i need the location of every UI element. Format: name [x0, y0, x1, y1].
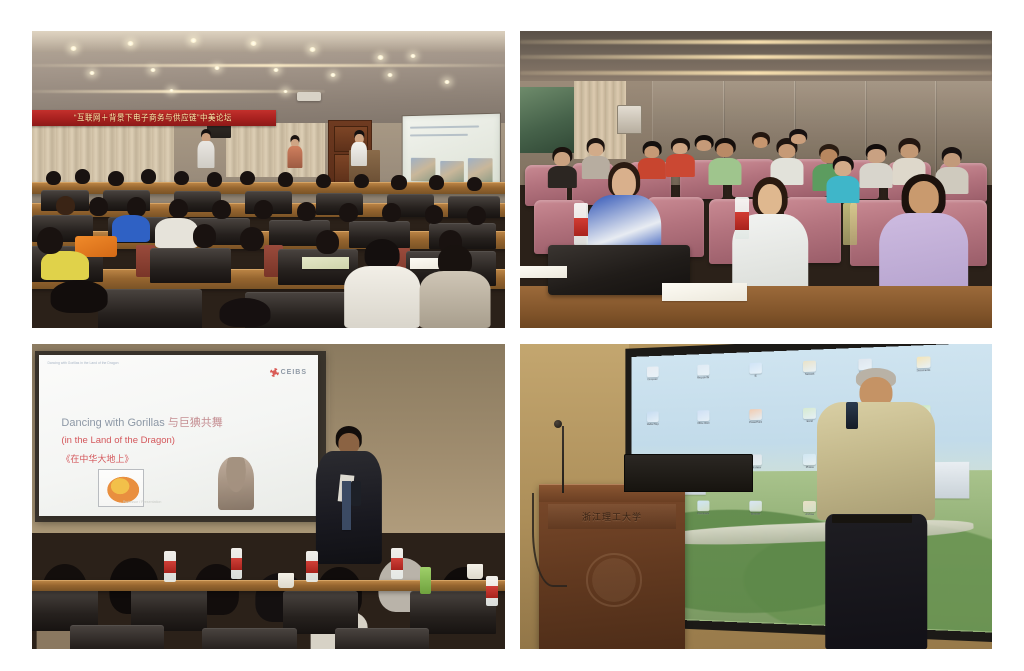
forum-banner-text: “互联网＋背景下电子商务与供应链”中美论坛	[74, 112, 232, 125]
student	[690, 135, 718, 171]
attendee-head	[37, 227, 63, 254]
photo-international-students-audience	[520, 31, 992, 328]
attendee-head	[316, 230, 340, 254]
water-bottle	[306, 551, 317, 582]
ceiling-downlight	[250, 41, 257, 46]
desktop-icon[interactable]: Computer	[647, 366, 659, 381]
slide-subtitle-english: (in the Land of the Dragon)	[61, 435, 175, 446]
desktop-icon[interactable]: Recycle Bin	[698, 365, 710, 380]
attendee-head	[240, 171, 255, 186]
audience-desk	[32, 580, 505, 590]
desktop-icon-label: Photos	[804, 466, 817, 469]
desktop-icon-glyph	[647, 411, 659, 422]
desktop-icon[interactable]: IE	[750, 363, 763, 378]
foreground-attendee	[32, 280, 127, 328]
desktop-icon-label: Archive	[804, 513, 817, 516]
students-audience-scene	[520, 31, 992, 328]
photo-collage: “互联网＋背景下电子商务与供应链”中美论坛	[0, 0, 1024, 671]
desktop-icon[interactable]: Network	[804, 361, 817, 377]
desktop-icon[interactable]: Media Player	[647, 411, 659, 426]
ceiling-downlight	[444, 80, 450, 84]
slide-caption: Professor / Presentation	[123, 500, 162, 504]
handheld-microphone	[351, 481, 360, 505]
paper-cup	[278, 573, 294, 588]
green-bottle	[420, 567, 431, 594]
attendee-head	[425, 205, 444, 224]
notebook-on-desk	[302, 257, 349, 269]
attendee-body	[41, 251, 88, 281]
desktop-icon[interactable]: PowerPoint	[750, 409, 763, 424]
seat-back	[335, 628, 430, 649]
foreground-attendee	[202, 298, 287, 328]
desktop-icon-label: IE	[750, 375, 763, 379]
slide-subtitle-chinese: 《在中华大地上》	[61, 452, 133, 465]
photo-speaker-with-slide-presentation: Dancing with Gorillas in the Land of the…	[32, 344, 505, 649]
desktop-icon-glyph	[804, 361, 817, 372]
slide-title-english: Dancing with Gorillas	[61, 417, 164, 429]
attendee-head	[108, 171, 124, 186]
lectern-nameplate-text: 浙江理工大学	[582, 510, 642, 523]
desktop-icon-label: Media Player	[647, 423, 659, 426]
window-curtain	[226, 123, 325, 176]
desktop-icon[interactable]: Excel	[804, 407, 817, 423]
attendee-head	[254, 200, 273, 219]
presenter-necktie	[342, 481, 351, 530]
desktop-icon-glyph	[698, 501, 710, 512]
desktop-icon-glyph	[804, 407, 817, 418]
standing-presenter	[287, 135, 302, 168]
attendee-head	[429, 175, 444, 190]
lectern-nameplate: 浙江理工大学	[548, 504, 677, 529]
forum-banner: “互联网＋背景下电子商务与供应链”中美论坛	[32, 110, 276, 126]
desktop-icon-label: PowerPoint	[750, 421, 763, 424]
ceiling-downlight	[89, 71, 95, 75]
water-bottle	[164, 551, 175, 582]
water-bottle	[574, 203, 588, 245]
water-bottle	[735, 197, 749, 239]
projection-screen	[401, 113, 501, 189]
attendee-head	[212, 200, 231, 219]
desktop-icon[interactable]: Browser	[750, 501, 763, 516]
ceiling-downlight	[190, 38, 197, 43]
attendee-head	[141, 169, 156, 184]
attendee-head	[278, 172, 293, 187]
lecture-hall-scene: “互联网＋背景下电子商务与供应链”中美论坛	[32, 31, 505, 328]
desktop-icon-label: Computer	[647, 378, 659, 381]
photo-speaker-at-podium: ComputerRecycle BinIENetworkControl Pane…	[520, 344, 992, 649]
student	[784, 129, 812, 165]
podium-scene: ComputerRecycle BinIENetworkControl Pane…	[520, 344, 992, 649]
glass-bottle	[843, 203, 857, 245]
student-with-glasses	[827, 156, 860, 204]
gorilla-statue-image	[218, 457, 254, 510]
desktop-icon-label: Browser	[750, 513, 763, 516]
desktop-icon-glyph	[917, 356, 931, 368]
microphone-stand	[562, 426, 564, 493]
desktop-icon-glyph	[750, 409, 763, 420]
attendee-head	[467, 177, 482, 192]
desktop-icon-glyph	[750, 501, 763, 512]
attendee-head	[174, 171, 189, 186]
slide-title: Dancing with Gorillas 与巨猠共舞	[61, 414, 222, 430]
student	[548, 147, 576, 189]
seat-back	[150, 248, 230, 284]
desktop-icon-label: Network	[804, 373, 817, 377]
student-in-lavender-top	[879, 174, 969, 305]
paper-cup	[467, 564, 483, 579]
foreground-attendee-white-top	[344, 239, 420, 328]
presenter-with-microphone	[817, 368, 935, 649]
cove-light-strip	[520, 55, 992, 59]
ceiling-downlight	[410, 54, 416, 58]
wallpaper-building	[934, 461, 970, 498]
ceibs-logo-mark	[270, 368, 279, 377]
desktop-icon-glyph	[647, 366, 659, 377]
presenter-belt	[832, 515, 912, 523]
ceiling-downlight	[387, 73, 393, 77]
ceiling-downlight	[127, 41, 134, 46]
attendee-head	[169, 199, 188, 218]
attendee-head	[75, 169, 90, 184]
attendee-head	[339, 203, 358, 222]
seat-back	[70, 625, 165, 649]
water-bottle	[391, 548, 402, 579]
projected-slide: Dancing with Gorillas in the Land of the…	[39, 355, 318, 517]
attendee-head	[391, 175, 406, 190]
desktop-icon-label: Excel	[804, 420, 817, 423]
slide-top-note: Dancing with Gorillas in the Land of the…	[47, 361, 118, 366]
attendee-head	[127, 197, 147, 217]
desktop-icon[interactable]: Archive	[804, 501, 817, 516]
ceiling-downlight	[169, 89, 174, 92]
attendee-head	[316, 174, 331, 189]
cove-light-strip	[32, 90, 325, 93]
attendee-head	[354, 174, 369, 189]
foreground-attendee	[420, 245, 491, 328]
handout-paper	[662, 283, 747, 301]
university-seal	[586, 553, 643, 606]
ceiling-bevel	[32, 31, 505, 52]
ceibs-logo-text: CEIBS	[281, 369, 307, 376]
handout-paper	[520, 266, 567, 278]
attendee-body	[155, 218, 198, 248]
desktop-icon-glyph	[750, 363, 763, 374]
handheld-microphone	[846, 402, 858, 429]
standing-presenter-at-lectern	[351, 130, 367, 166]
attendee-head	[297, 202, 316, 221]
attendee-head	[56, 196, 75, 215]
standing-presenter	[198, 129, 215, 168]
water-bottle	[486, 576, 498, 607]
seat-back	[202, 628, 297, 649]
cove-light-strip	[32, 64, 505, 67]
desktop-icon-label: Office Word	[698, 422, 710, 425]
desktop-icon-glyph	[698, 365, 710, 376]
attendee-head	[240, 227, 264, 251]
cove-light-strip	[520, 40, 992, 44]
photo-lecture-hall-wide-view: “互联网＋背景下电子商务与供应链”中美论坛	[32, 31, 505, 328]
desktop-icon[interactable]: Photos	[804, 454, 817, 469]
desktop-icon-glyph	[804, 454, 817, 465]
desktop-icon-label: Downloads	[698, 512, 710, 515]
slide-presentation-scene: Dancing with Gorillas in the Land of the…	[32, 344, 505, 649]
ceiling-projector	[297, 92, 321, 101]
desktop-icon-glyph	[698, 410, 710, 421]
attendee-head	[193, 224, 217, 248]
desktop-icon[interactable]: Downloads	[698, 501, 710, 516]
water-bottle	[231, 548, 242, 579]
slide-title-chinese: 与巨猠共舞	[168, 417, 223, 429]
cove-light-strip	[520, 71, 992, 75]
attendee-head	[467, 206, 486, 225]
laptop-on-lectern	[624, 454, 753, 493]
desktop-icon-label: Recycle Bin	[698, 376, 710, 380]
desktop-icon[interactable]: Office Word	[698, 410, 710, 425]
ceibs-logo: CEIBS	[270, 368, 307, 377]
attendee-head	[382, 203, 401, 222]
attendee-head	[207, 172, 222, 187]
attendee-head	[89, 197, 108, 216]
desktop-icon-glyph	[804, 501, 817, 512]
attendee-body	[112, 215, 150, 242]
air-conditioner	[617, 105, 643, 134]
